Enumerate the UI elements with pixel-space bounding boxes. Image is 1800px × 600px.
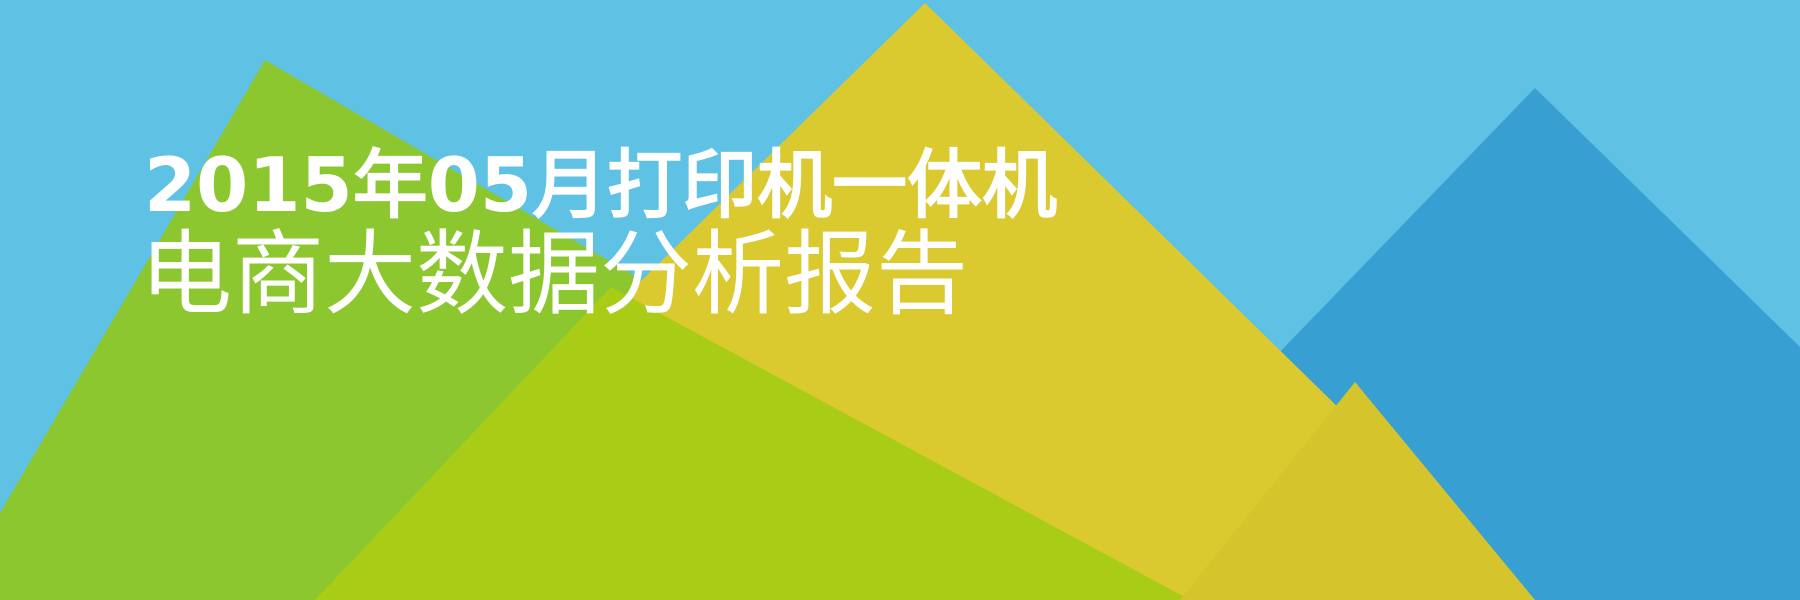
- geometric-background: [0, 0, 1800, 600]
- report-cover-banner: 2015年05月打印机一体机 电商大数据分析报告: [0, 0, 1800, 600]
